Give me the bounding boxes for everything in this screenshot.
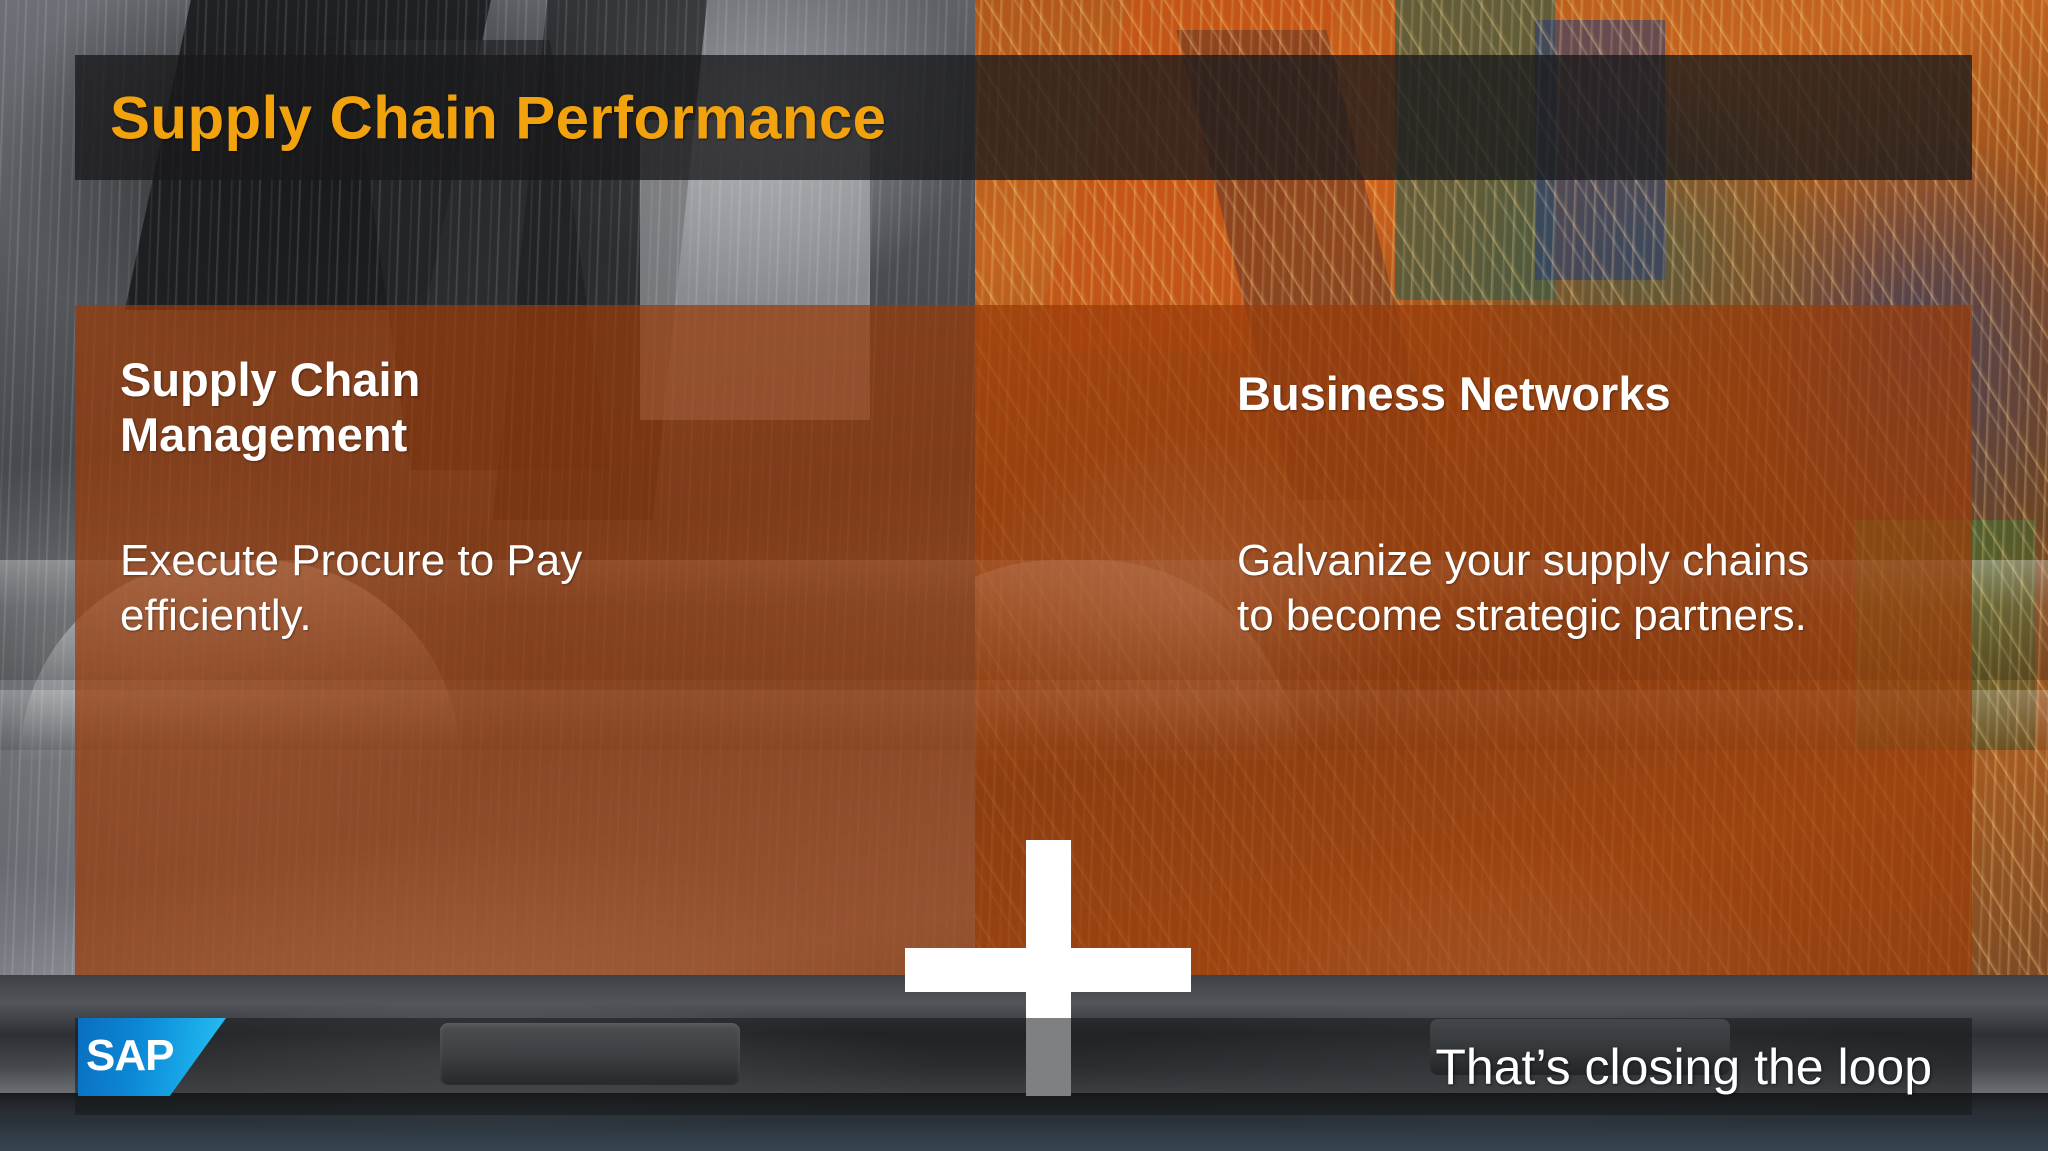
presentation-slide: Supply Chain Performance Supply Chain Ma… xyxy=(0,0,2048,1151)
column-heading-right: Business Networks xyxy=(1237,367,1937,422)
slide-title: Supply Chain Performance xyxy=(110,83,886,152)
sap-logo-text: SAP xyxy=(86,1031,173,1081)
column-supply-chain-management: Supply Chain Management Execute Procure … xyxy=(75,305,950,975)
column-body-right: Galvanize your supply chains to become s… xyxy=(1237,533,1857,644)
column-business-networks: Business Networks Galvanize your supply … xyxy=(1097,305,1972,975)
column-body-left: Execute Procure to Pay efficiently. xyxy=(120,533,760,644)
title-band: Supply Chain Performance xyxy=(75,55,1972,180)
footer-band: That’s closing the loop xyxy=(75,1018,1972,1115)
column-heading-left: Supply Chain Management xyxy=(120,353,640,462)
footer-tagline: That’s closing the loop xyxy=(1435,1038,1932,1096)
content-panel: Supply Chain Management Execute Procure … xyxy=(75,305,1972,975)
